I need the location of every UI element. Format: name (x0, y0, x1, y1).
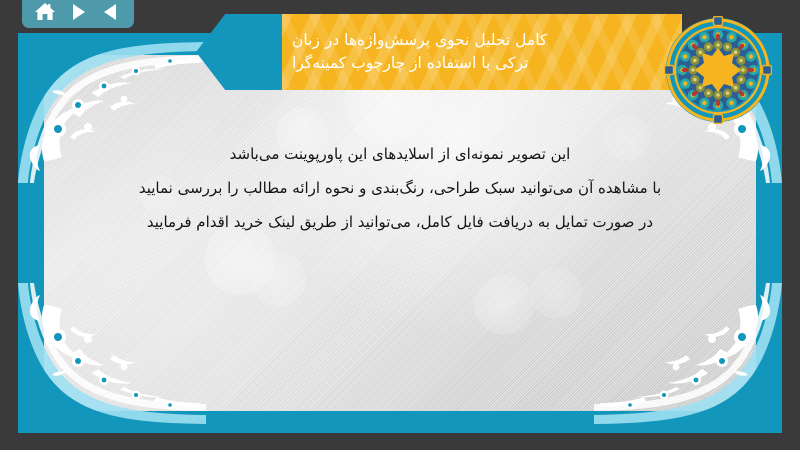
previous-slide-button[interactable] (98, 1, 124, 23)
triangle-right-icon (67, 2, 89, 22)
home-button[interactable] (32, 1, 58, 23)
slide-viewer: این تصویر نمونه‌ای از اسلایدهای این پاور… (0, 0, 800, 450)
banner-arrow-shape (196, 14, 282, 90)
slide-title-banner: کامل تحلیل نحوی پرسش‌واژه‌ها در زبان ترک… (196, 14, 682, 90)
persian-medallion-icon (664, 16, 772, 124)
bokeh-circle (474, 275, 534, 335)
triangle-left-icon (100, 2, 122, 22)
body-line-3: در صورت تمایل به دریافت فایل کامل، می‌تو… (44, 206, 756, 240)
next-slide-button[interactable] (65, 1, 91, 23)
banner-body: کامل تحلیل نحوی پرسش‌واژه‌ها در زبان ترک… (282, 14, 682, 90)
slide-title-line-1: کامل تحلیل نحوی پرسش‌واژه‌ها در زبان (292, 29, 547, 52)
bokeh-circle (530, 267, 582, 319)
slide-body-text: این تصویر نمونه‌ای از اسلایدهای این پاور… (44, 138, 756, 239)
body-line-2: با مشاهده آن می‌توانید سبک طراحی، رنگ‌بن… (44, 172, 756, 206)
slide-title-line-2: ترکی با استفاده از چارچوب کمینه‌گرا (292, 52, 528, 75)
slide-navigation-bar (22, 0, 134, 28)
body-line-1: این تصویر نمونه‌ای از اسلایدهای این پاور… (44, 138, 756, 172)
bokeh-circle (250, 251, 306, 307)
home-icon (33, 1, 57, 23)
